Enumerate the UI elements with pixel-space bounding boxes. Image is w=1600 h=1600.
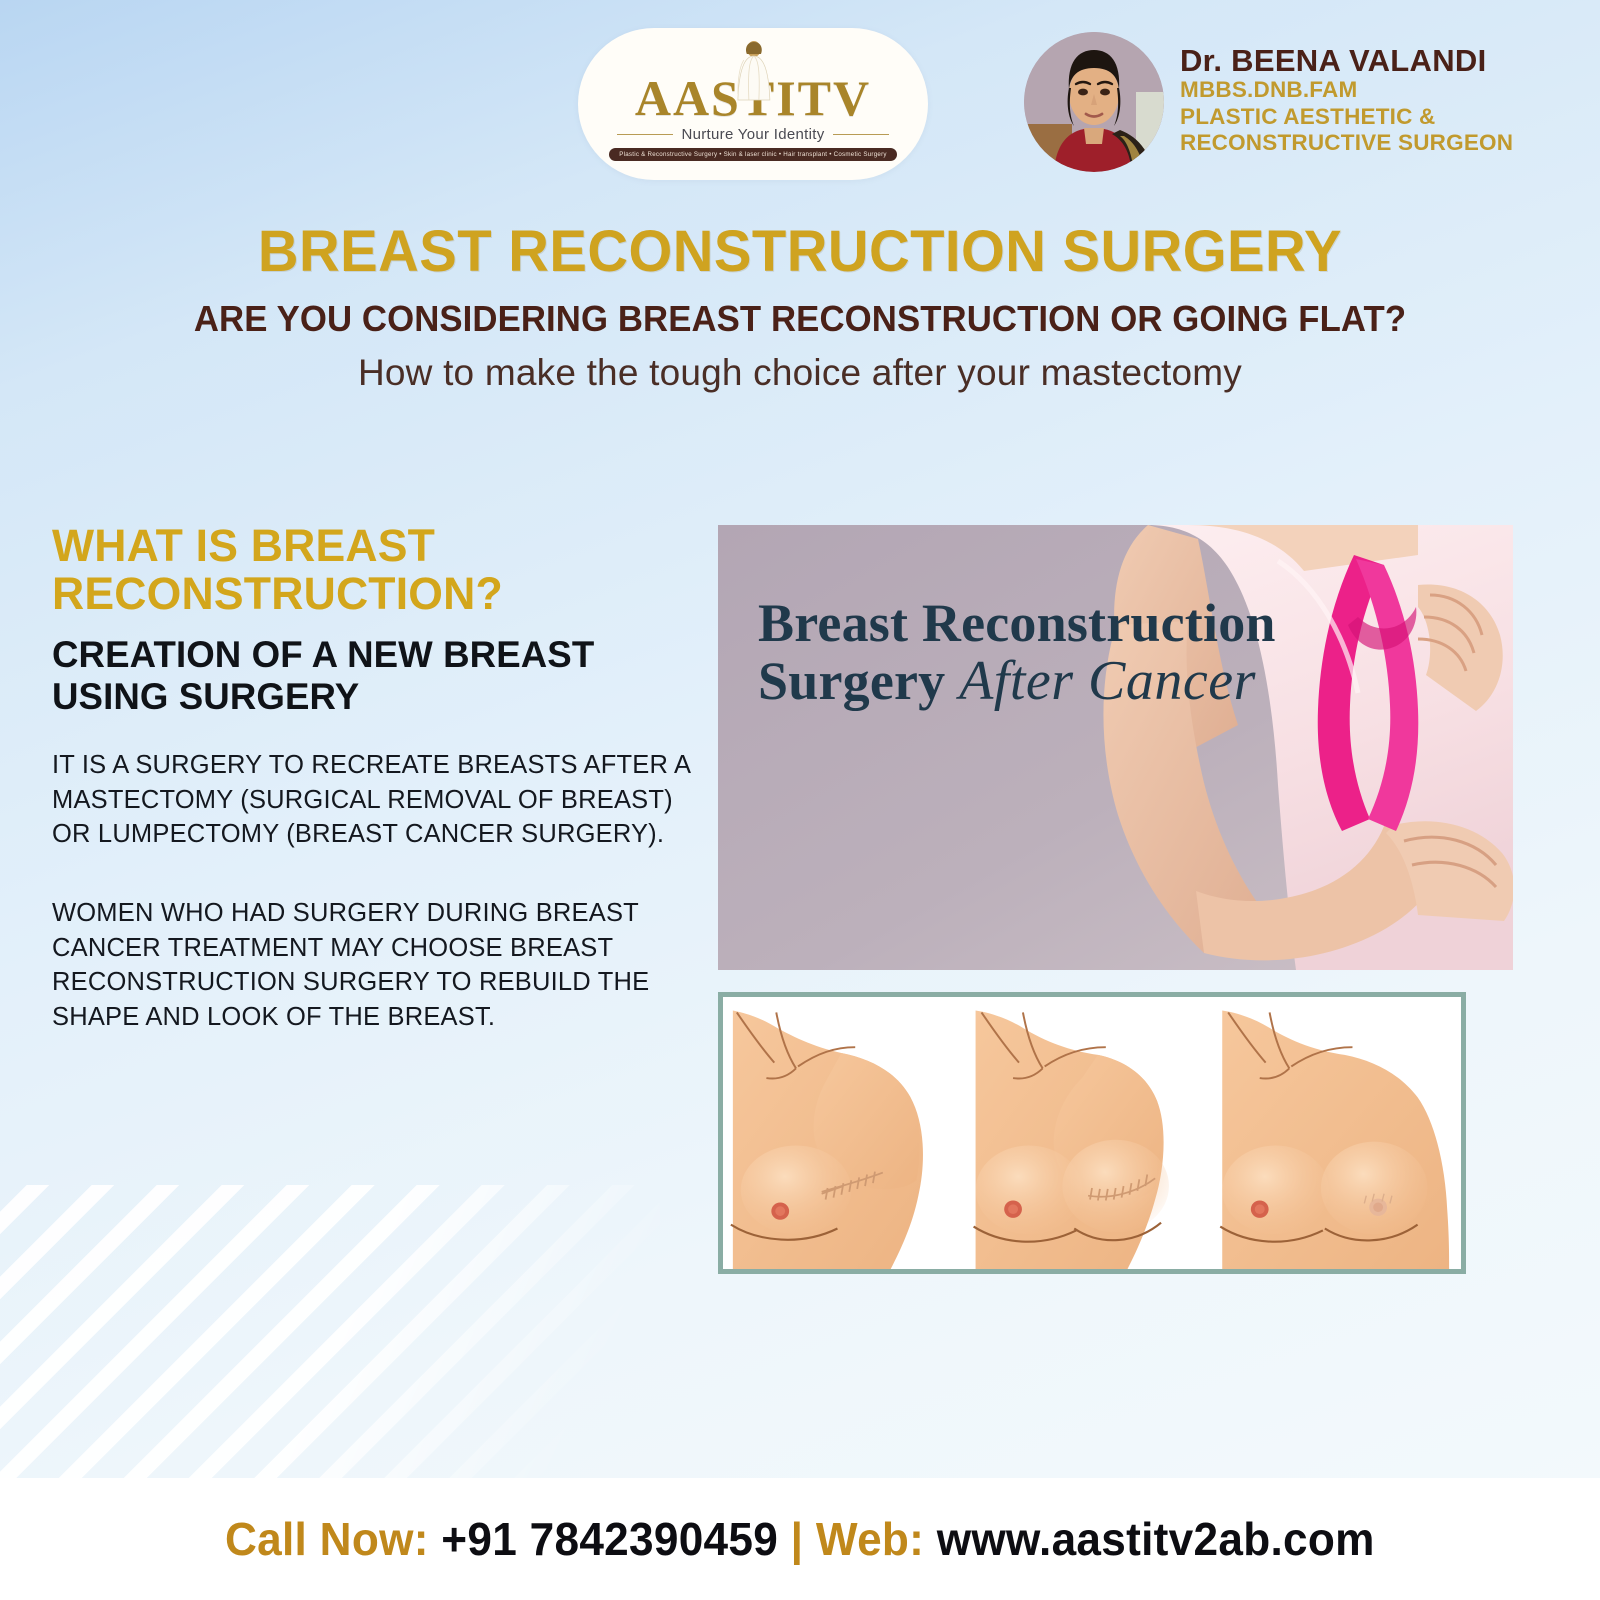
infographic-poster: AASTITV Nurture Your Identity Plastic & … — [0, 0, 1600, 1600]
tagline-rule-right — [833, 134, 889, 135]
reconstruction-stages-illustration — [718, 992, 1466, 1274]
brand-logo-card: AASTITV Nurture Your Identity Plastic & … — [578, 28, 928, 180]
body-paragraph-1: IT IS A SURGERY TO RECREATE BREASTS AFTE… — [52, 748, 692, 852]
tagline-rule-left — [617, 134, 673, 135]
doctor-specialty-line-2: RECONSTRUCTIVE SURGEON — [1180, 130, 1600, 156]
footer-line: Call Now: +91 7842390459 | Web: www.aast… — [225, 1512, 1375, 1566]
call-now-label: Call Now: — [225, 1513, 429, 1565]
section-heading: WHAT IS BREAST RECONSTRUCTION? — [52, 522, 686, 618]
doctor-info: Dr. BEENA VALANDI MBBS.DNB.FAM PLASTIC A… — [1180, 44, 1600, 156]
footer-contact-bar: Call Now: +91 7842390459 | Web: www.aast… — [0, 1478, 1600, 1600]
logo-wordmark: AASTITV — [635, 73, 871, 123]
doctor-avatar — [1024, 32, 1164, 172]
logo-tagline-row: Nurture Your Identity — [617, 126, 889, 143]
sub-title: ARE YOU CONSIDERING BREAST RECONSTRUCTIO… — [28, 298, 1572, 340]
main-title: BREAST RECONSTRUCTION SURGERY — [24, 218, 1576, 285]
logo-services-bar: Plastic & Reconstructive Surgery • Skin … — [609, 148, 897, 161]
body-paragraph-2: WOMEN WHO HAD SURGERY DURING BREAST CANC… — [52, 896, 692, 1035]
tag-line: How to make the tough choice after your … — [0, 352, 1600, 394]
section-subheading: CREATION OF A NEW BREAST USING SURGERY — [52, 634, 686, 718]
decorative-diagonal-stripes — [0, 1185, 660, 1485]
website-url[interactable]: www.aastitv2ab.com — [937, 1513, 1375, 1565]
doctor-qualification: MBBS.DNB.FAM — [1180, 77, 1600, 103]
hero-photo: Breast Reconstruction Surgery After Canc… — [718, 525, 1513, 970]
doctor-specialty-line-1: PLASTIC AESTHETIC & — [1180, 104, 1600, 130]
footer-separator: | — [791, 1513, 804, 1565]
logo-tagline: Nurture Your Identity — [681, 126, 824, 143]
doctor-name: Dr. BEENA VALANDI — [1180, 44, 1600, 77]
web-label: Web: — [816, 1513, 924, 1565]
left-content-column: WHAT IS BREAST RECONSTRUCTION? CREATION … — [52, 522, 692, 1035]
phone-number[interactable]: +91 7842390459 — [441, 1513, 778, 1565]
